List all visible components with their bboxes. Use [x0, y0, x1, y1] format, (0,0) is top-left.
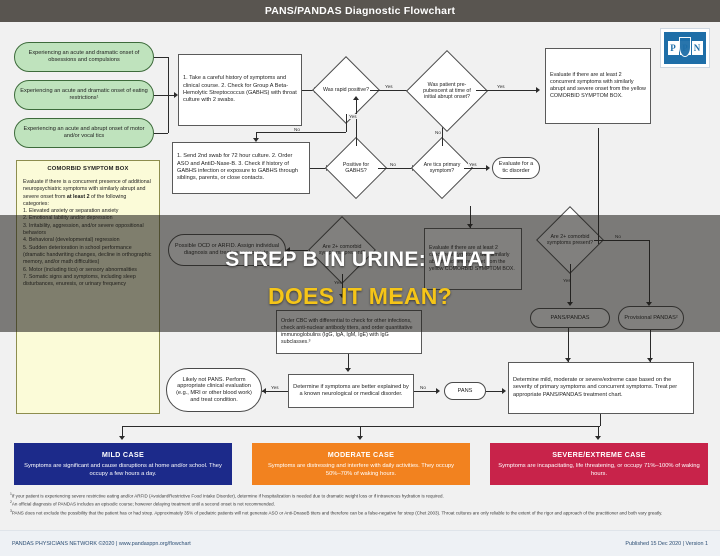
case-box-mild: MILD CASE Symptoms are significant and c… — [14, 443, 232, 485]
comorbid-item-1: 1. Elevated anxiety or separation anxiet… — [23, 208, 153, 215]
entry-oval-obsessions-label: Experiencing an acute and dramatic onset… — [19, 50, 149, 63]
edge-prepub-yes — [476, 90, 538, 91]
provisional-pandas-label: Provisional PANDAS² — [624, 315, 677, 322]
overlay-title-line2: DOES IT MEAN? — [0, 283, 720, 310]
edge-rapid-no-h — [256, 132, 346, 133]
arrow-case-mod — [357, 436, 363, 440]
entry-oval-obsessions: Experiencing an acute and dramatic onset… — [14, 42, 154, 72]
better-explained-label: Determine if symptoms are better explain… — [293, 384, 409, 399]
pans-pandas-oval: PANS/PANDAS — [530, 308, 610, 328]
comorbid-item-3: 3. Irritability, aggression, and/or seve… — [23, 223, 153, 238]
determine-severity-label: Determine mild, moderate or severe/extre… — [513, 377, 689, 399]
edge-pp-to-determine — [568, 328, 569, 362]
arrow-tics-yes — [486, 165, 490, 171]
edge-tics-yes — [464, 168, 488, 169]
comorbid-symptom-box-intro: Evaluate if there is a concurrent presen… — [23, 179, 153, 208]
comorbid-item-4: 4. Behavioral (developmental) regression — [23, 237, 153, 244]
arrow-case-sev — [595, 436, 601, 440]
page-title-bar: PANS/PANDAS Diagnostic Flowchart — [0, 0, 720, 22]
edge-label-rapid-no: No — [293, 127, 301, 132]
edge-label-rapid-yes: Yes — [384, 84, 394, 89]
arrow-cbc-down — [345, 368, 351, 372]
edge-green2 — [154, 95, 168, 96]
case-box-severe: SEVERE/EXTREME CASE Symptoms are incapac… — [490, 443, 708, 485]
flowchart-page: PANS/PANDAS Diagnostic Flowchart P P N E… — [0, 0, 720, 556]
case-box-mild-body: Symptoms are significant and cause disru… — [22, 462, 224, 479]
ppn-logo: P P N — [660, 28, 710, 68]
comorbid-symptom-box-header: COMORBID SYMPTOM BOX — [23, 166, 153, 174]
footnote-3: 3PANS does not exclude the possibility t… — [10, 509, 712, 517]
decision-rapid-positive: Was rapid positive? — [322, 66, 370, 114]
edge-label-prepub-yes: Yes — [496, 84, 506, 89]
ppn-letter-n: N — [692, 41, 703, 55]
comorbid-item-2: 2. Emotional lability and/or depression — [23, 215, 153, 222]
edge-rapid-no-v — [346, 114, 347, 132]
arrow-pans-to-determine — [502, 388, 506, 394]
edge-green1 — [154, 57, 168, 58]
ppn-letter-p1: P — [668, 41, 679, 55]
arrow-better-no — [436, 388, 440, 394]
arrow-prov-to-determine — [647, 358, 653, 362]
ppn-logo-badge: P P N — [664, 32, 706, 64]
arrow-gabhs-yes — [353, 96, 359, 100]
history-box: 1. Take a careful history of symptoms an… — [178, 54, 302, 126]
evaluate-comorbid-box-top-label: Evaluate if there are at least 2 concurr… — [550, 72, 646, 101]
footnote-2: 2An official diagnosis of PANDAS include… — [10, 500, 712, 508]
footnotes: 1If your patient is experiencing severe … — [10, 492, 712, 517]
decision-rapid-positive-label: Was rapid positive? — [322, 66, 370, 114]
case-box-severe-body: Symptoms are incapacitating, life threat… — [498, 462, 700, 479]
footer-right: Published 15 Dec 2020 | Version 1 — [625, 541, 708, 547]
edge-are2plus-right-no-h — [594, 240, 650, 241]
entry-oval-tics: Experiencing an acute and abrupt onset o… — [14, 118, 154, 148]
page-footer: PANDAS PHYSICIANS NETWORK ©2020 | www.pa… — [0, 530, 720, 556]
pans-oval: PANS — [444, 382, 486, 400]
evaluate-comorbid-box-top: Evaluate if there are at least 2 concurr… — [545, 48, 651, 124]
edge-gabhs-no — [378, 168, 414, 169]
edge-determine-down — [600, 414, 601, 426]
decision-tics-primary-label: Are tics primary symptom? — [420, 146, 464, 190]
pans-oval-label: PANS — [458, 388, 473, 395]
case-box-moderate-body: Symptoms are distressing and interfere w… — [260, 462, 462, 479]
case-box-moderate: MODERATE CASE Symptoms are distressing a… — [252, 443, 470, 485]
tic-disorder-label: Evaluate for a tic disorder — [498, 161, 534, 174]
edge-label-gabhs-yes: Yes — [348, 114, 358, 119]
edge-label-better-no: No — [419, 385, 427, 390]
case-box-moderate-title: MODERATE CASE — [328, 450, 394, 459]
overlay-title-line1: STREP B IN URINE: WHAT — [0, 248, 720, 272]
footnote-1: 1If your patient is experiencing severe … — [10, 492, 712, 500]
edge-label-better-yes: Yes — [270, 385, 280, 390]
better-explained-box: Determine if symptoms are better explain… — [288, 374, 414, 408]
tic-disorder-oval: Evaluate for a tic disorder — [492, 157, 540, 179]
determine-severity-box: Determine mild, moderate or severe/extre… — [508, 362, 694, 414]
arrow-case-mild — [119, 436, 125, 440]
swab-box: 1. Send 2nd swab for 72 hour culture. 2.… — [172, 142, 310, 194]
edge-green3 — [154, 133, 168, 134]
edge-label-tics-yes: Yes — [468, 162, 478, 167]
not-pans-oval: Likely not PANS. Perform appropriate cli… — [166, 368, 262, 412]
arrow-pp-to-determine — [565, 358, 571, 362]
edge-gabhs-yes-v — [356, 100, 357, 146]
case-box-mild-title: MILD CASE — [102, 450, 144, 459]
pans-pandas-label: PANS/PANDAS — [551, 315, 590, 322]
edge-label-tics-no: No — [434, 130, 442, 135]
decision-prepubescent-label: Was patient pre-pubescent at time of ini… — [418, 62, 476, 120]
decision-gabhs-positive: Positive for GABHS? — [334, 146, 378, 190]
cbc-box-label: Order CBC with differential to check for… — [281, 318, 417, 346]
footer-left[interactable]: PANDAS PHYSICIANS NETWORK ©2020 | www.pa… — [12, 541, 191, 547]
edge-label-gabhs-no: No — [389, 162, 397, 167]
page-title: PANS/PANDAS Diagnostic Flowchart — [265, 5, 455, 17]
entry-oval-eating: Experiencing an acute and dramatic onset… — [14, 80, 154, 110]
shield-icon — [679, 37, 691, 57]
edge-label-are2plus-right-no: No — [614, 234, 622, 239]
case-box-severe-title: SEVERE/EXTREME CASE — [552, 450, 646, 459]
decision-tics-primary: Are tics primary symptom? — [420, 146, 464, 190]
history-box-label: 1. Take a careful history of symptoms an… — [183, 75, 297, 105]
arrow-prepub-yes — [536, 87, 540, 93]
edge-evaltop-down — [598, 128, 599, 244]
edge-cases-bus — [122, 426, 600, 427]
decision-gabhs-positive-label: Positive for GABHS? — [334, 146, 378, 190]
swab-box-label: 1. Send 2nd swab for 72 hour culture. 2.… — [177, 153, 305, 183]
entry-oval-eating-label: Experiencing an acute and dramatic onset… — [19, 88, 149, 101]
decision-prepubescent: Was patient pre-pubescent at time of ini… — [418, 62, 476, 120]
edge-better-no — [414, 391, 438, 392]
entry-oval-tics-label: Experiencing an acute and abrupt onset o… — [19, 126, 149, 139]
arrow-to-evaluate-mid — [467, 224, 473, 228]
arrow-better-yes — [262, 388, 266, 394]
cbc-box: Order CBC with differential to check for… — [276, 310, 422, 354]
not-pans-label: Likely not PANS. Perform appropriate cli… — [172, 377, 256, 403]
